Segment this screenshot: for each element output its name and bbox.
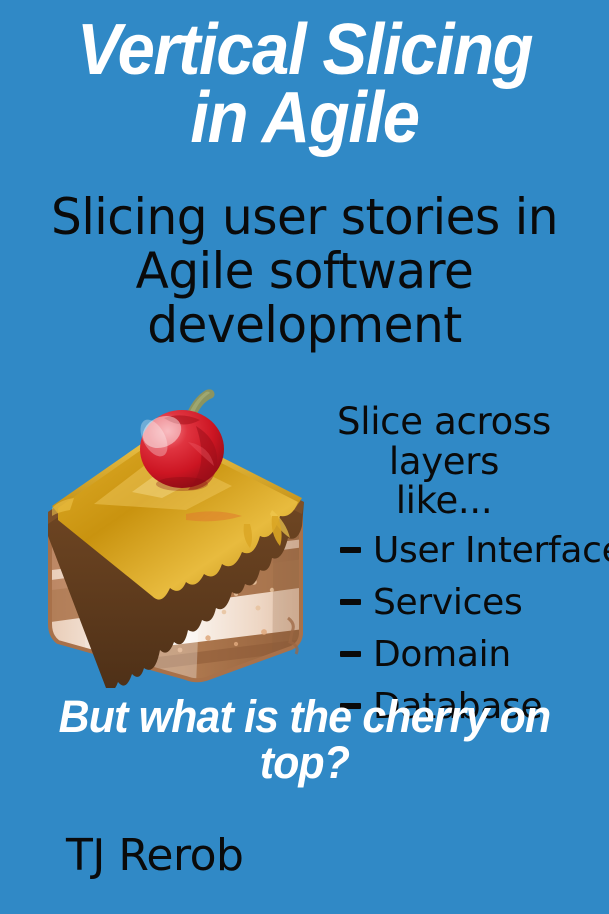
layer-label: User Interface [373, 533, 609, 569]
list-item: Domain [284, 637, 604, 673]
layers-heading: Slice across layers like... [284, 402, 604, 521]
author-name: TJ Rerob [66, 834, 243, 878]
layers-block: Slice across layers like... User Interfa… [284, 402, 604, 741]
dash-bullet-icon [340, 547, 361, 553]
layer-label: Domain [373, 637, 511, 673]
list-item: User Interface [284, 533, 604, 569]
tagline: But what is the cherry on top? [15, 694, 594, 786]
book-cover: Vertical Slicing in Agile Slicing user s… [0, 0, 609, 914]
dash-bullet-icon [340, 651, 361, 657]
page-title: Vertical Slicing in Agile [21, 16, 587, 153]
subtitle: Slicing user stories in Agile software d… [9, 190, 600, 352]
layer-label: Services [373, 585, 522, 621]
list-item: Services [284, 585, 604, 621]
dash-bullet-icon [340, 599, 361, 605]
